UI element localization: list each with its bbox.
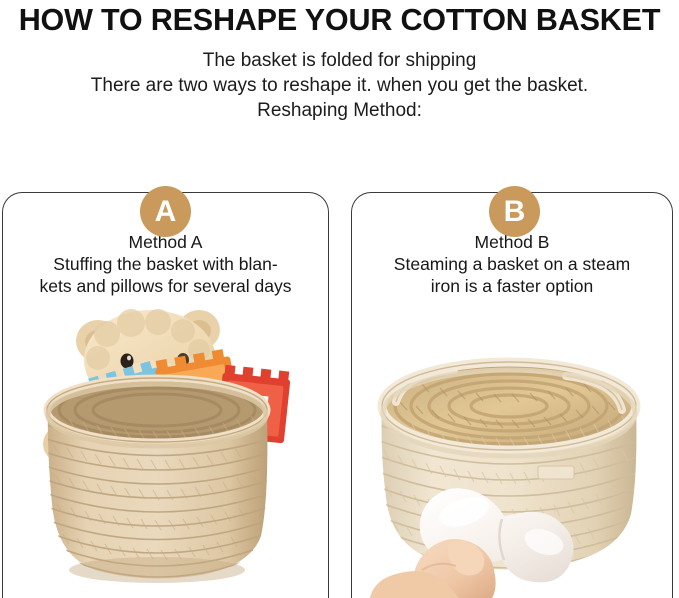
method-b-caption: Method B Steaming a basket on a steam ir… [352,231,672,297]
method-card-a: Method A Stuffing the basket with blan- … [2,192,329,598]
method-card-b: Method B Steaming a basket on a steam ir… [351,192,673,598]
hand [370,539,496,598]
method-a-illustration: Cotton rope basket filled with a plush t… [3,298,328,598]
subtitle-line-2: There are two ways to reshape it. when y… [0,73,679,98]
method-cards: A B Method A Stuffing the basket with bl… [0,186,679,592]
method-a-desc-line-1: Stuffing the basket with blan- [9,253,322,275]
basket-label-tag [538,466,574,479]
subtitle-block: The basket is folded for shipping There … [0,48,679,123]
cotton-rope-basket-graphic [43,378,273,583]
method-a-caption: Method A Stuffing the basket with blan- … [3,231,328,297]
method-b-desc-line-2: iron is a faster option [358,275,666,297]
header: HOW TO RESHAPE YOUR COTTON BASKET The ba… [0,0,679,123]
method-badge-a: A [140,186,191,237]
subtitle-line-3: Reshaping Method: [0,98,679,123]
method-a-desc-line-2: kets and pillows for several days [9,275,322,297]
page-title: HOW TO RESHAPE YOUR COTTON BASKET [5,2,674,38]
method-b-desc-line-1: Steaming a basket on a steam [358,253,666,275]
method-badge-b: B [489,186,540,237]
method-b-illustration: Hand holding a white garment steamer hea… [352,298,672,598]
subtitle-line-1: The basket is folded for shipping [0,48,679,73]
